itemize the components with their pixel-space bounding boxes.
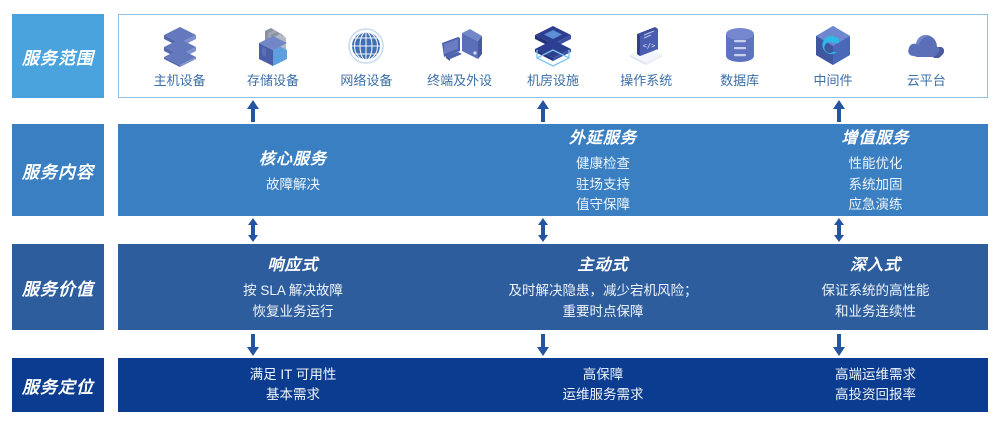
row-label-service-content: 服务内容 — [12, 124, 104, 216]
service-positioning-panel: 满足 IT 可用性 基本需求 高保障 运维服务需求 高端运维需求 高投资回报率 — [118, 358, 988, 412]
scope-item-label: 云平台 — [907, 70, 946, 89]
content-column-valueadd[interactable]: 增值服务 性能优化 系统加固 应急演练 — [768, 124, 983, 216]
value-column-proactive[interactable]: 主动式 及时解决隐患，减少宕机风险； 重要时点保障 — [468, 244, 738, 330]
positioning-column-lines: 满足 IT 可用性 基本需求 — [250, 365, 337, 406]
arrow-updown-row3-to-row2-col2 — [536, 218, 550, 242]
positioning-column-basic[interactable]: 满足 IT 可用性 基本需求 — [178, 358, 408, 412]
arrow-updown-row3-to-row2-col1 — [246, 218, 260, 242]
content-line: 健康检查 — [576, 154, 630, 175]
service-positioning-columns: 满足 IT 可用性 基本需求 高保障 运维服务需求 高端运维需求 高投资回报率 — [118, 358, 988, 412]
row-label-service-value: 服务价值 — [12, 244, 104, 330]
content-column-extended[interactable]: 外延服务 健康检查 驻场支持 值守保障 — [468, 124, 738, 216]
scope-item-label: 中间件 — [813, 70, 852, 89]
positioning-column-assured[interactable]: 高保障 运维服务需求 — [468, 358, 738, 412]
scope-item-label: 操作系统 — [620, 70, 672, 89]
content-column-lines: 健康检查 驻场支持 值守保障 — [576, 154, 630, 217]
network-globe-icon — [346, 23, 386, 67]
cloud-platform-icon — [904, 23, 948, 67]
content-column-lines: 性能优化 系统加固 应急演练 — [849, 154, 903, 217]
scope-icon-grid: 主机设备 — [119, 15, 987, 97]
service-content-columns: 核心服务 故障解决 外延服务 健康检查 驻场支持 值守保障 增值服务 性能优化 … — [118, 124, 988, 216]
content-line: 故障解决 — [266, 175, 320, 196]
content-line: 应急演练 — [849, 195, 903, 216]
value-line: 和业务连续性 — [822, 302, 930, 323]
value-column-responsive[interactable]: 响应式 按 SLA 解决故障 恢复业务运行 — [178, 244, 408, 330]
scope-item-storage[interactable]: 存储设备 — [226, 19, 319, 95]
value-column-deep[interactable]: 深入式 保证系统的高性能 和业务连续性 — [768, 244, 983, 330]
service-content-panel: 核心服务 故障解决 外延服务 健康检查 驻场支持 值守保障 增值服务 性能优化 … — [118, 124, 988, 216]
value-column-title: 深入式 — [850, 251, 901, 275]
scope-item-cloud[interactable]: 云平台 — [880, 19, 973, 95]
arrow-up-row2-to-row1-col1 — [246, 100, 260, 122]
scope-item-label: 数据库 — [720, 70, 759, 89]
value-line: 重要时点保障 — [509, 302, 698, 323]
content-line: 系统加固 — [849, 175, 903, 196]
scope-item-label: 存储设备 — [247, 70, 299, 89]
value-line: 及时解决隐患，减少宕机风险； — [509, 281, 698, 302]
scope-item-os[interactable]: </> 操作系统 — [600, 19, 693, 95]
arrow-up-row2-to-row1-col2 — [536, 100, 550, 122]
row-label-text: 服务定位 — [22, 373, 94, 398]
positioning-line: 满足 IT 可用性 — [250, 365, 337, 385]
operating-system-icon: </> — [624, 23, 668, 67]
scope-item-network[interactable]: 网络设备 — [320, 19, 413, 95]
scope-item-label: 机房设施 — [527, 70, 579, 89]
middleware-cube-icon — [812, 23, 854, 67]
scope-item-host[interactable]: 主机设备 — [133, 19, 226, 95]
row-label-text: 服务范围 — [22, 44, 94, 69]
scope-item-terminal[interactable]: 终端及外设 — [413, 19, 506, 95]
service-value-columns: 响应式 按 SLA 解决故障 恢复业务运行 主动式 及时解决隐患，减少宕机风险；… — [118, 244, 988, 330]
server-stack-icon — [160, 23, 200, 67]
positioning-column-lines: 高保障 运维服务需求 — [563, 365, 644, 406]
service-scope-panel: 主机设备 — [118, 14, 988, 98]
content-line: 性能优化 — [849, 154, 903, 175]
value-column-lines: 保证系统的高性能 和业务连续性 — [822, 281, 930, 323]
svg-text:</>: </> — [643, 42, 656, 50]
scope-item-middleware[interactable]: 中间件 — [786, 19, 879, 95]
row-label-text: 服务内容 — [22, 158, 94, 183]
positioning-line: 高保障 — [563, 365, 644, 385]
arrow-down-row3-to-row4-col2 — [536, 334, 550, 356]
row-label-service-scope: 服务范围 — [12, 14, 104, 98]
scope-item-label: 终端及外设 — [427, 70, 492, 89]
value-line: 保证系统的高性能 — [822, 281, 930, 302]
positioning-column-premium[interactable]: 高端运维需求 高投资回报率 — [768, 358, 983, 412]
value-line: 按 SLA 解决故障 — [243, 281, 343, 302]
arrow-down-row3-to-row4-col1 — [246, 334, 260, 356]
positioning-line: 基本需求 — [250, 385, 337, 405]
positioning-line: 高端运维需求 — [835, 365, 916, 385]
value-column-lines: 按 SLA 解决故障 恢复业务运行 — [243, 281, 343, 323]
arrow-down-row3-to-row4-col3 — [832, 334, 846, 356]
scope-item-database[interactable]: 数据库 — [693, 19, 786, 95]
service-value-panel: 响应式 按 SLA 解决故障 恢复业务运行 主动式 及时解决隐患，减少宕机风险；… — [118, 244, 988, 330]
row-label-text: 服务价值 — [22, 275, 94, 300]
row-label-service-positioning: 服务定位 — [12, 358, 104, 412]
scope-item-label: 网络设备 — [340, 70, 392, 89]
value-column-title: 主动式 — [577, 251, 628, 275]
content-line: 值守保障 — [576, 195, 630, 216]
value-column-lines: 及时解决隐患，减少宕机风险； 重要时点保障 — [509, 281, 698, 323]
content-column-lines: 故障解决 — [266, 175, 320, 196]
arrow-up-row2-to-row1-col3 — [832, 100, 846, 122]
desktop-pc-icon — [438, 23, 482, 67]
scope-item-datacenter[interactable]: 机房设施 — [506, 19, 599, 95]
value-column-title: 响应式 — [267, 251, 318, 275]
positioning-column-lines: 高端运维需求 高投资回报率 — [835, 365, 916, 406]
storage-array-icon — [253, 23, 293, 67]
arrow-updown-row3-to-row2-col3 — [832, 218, 846, 242]
scope-item-label: 主机设备 — [154, 70, 206, 89]
content-line: 驻场支持 — [576, 175, 630, 196]
content-column-title: 外延服务 — [569, 124, 637, 148]
positioning-line: 运维服务需求 — [563, 385, 644, 405]
service-framework-diagram: 服务范围 — [0, 0, 1000, 424]
database-icon — [720, 23, 760, 67]
positioning-line: 高投资回报率 — [835, 385, 916, 405]
data-center-icon — [531, 23, 575, 67]
content-column-title: 增值服务 — [841, 124, 909, 148]
content-column-core[interactable]: 核心服务 故障解决 — [178, 124, 408, 216]
value-line: 恢复业务运行 — [243, 302, 343, 323]
content-column-title: 核心服务 — [259, 145, 327, 169]
